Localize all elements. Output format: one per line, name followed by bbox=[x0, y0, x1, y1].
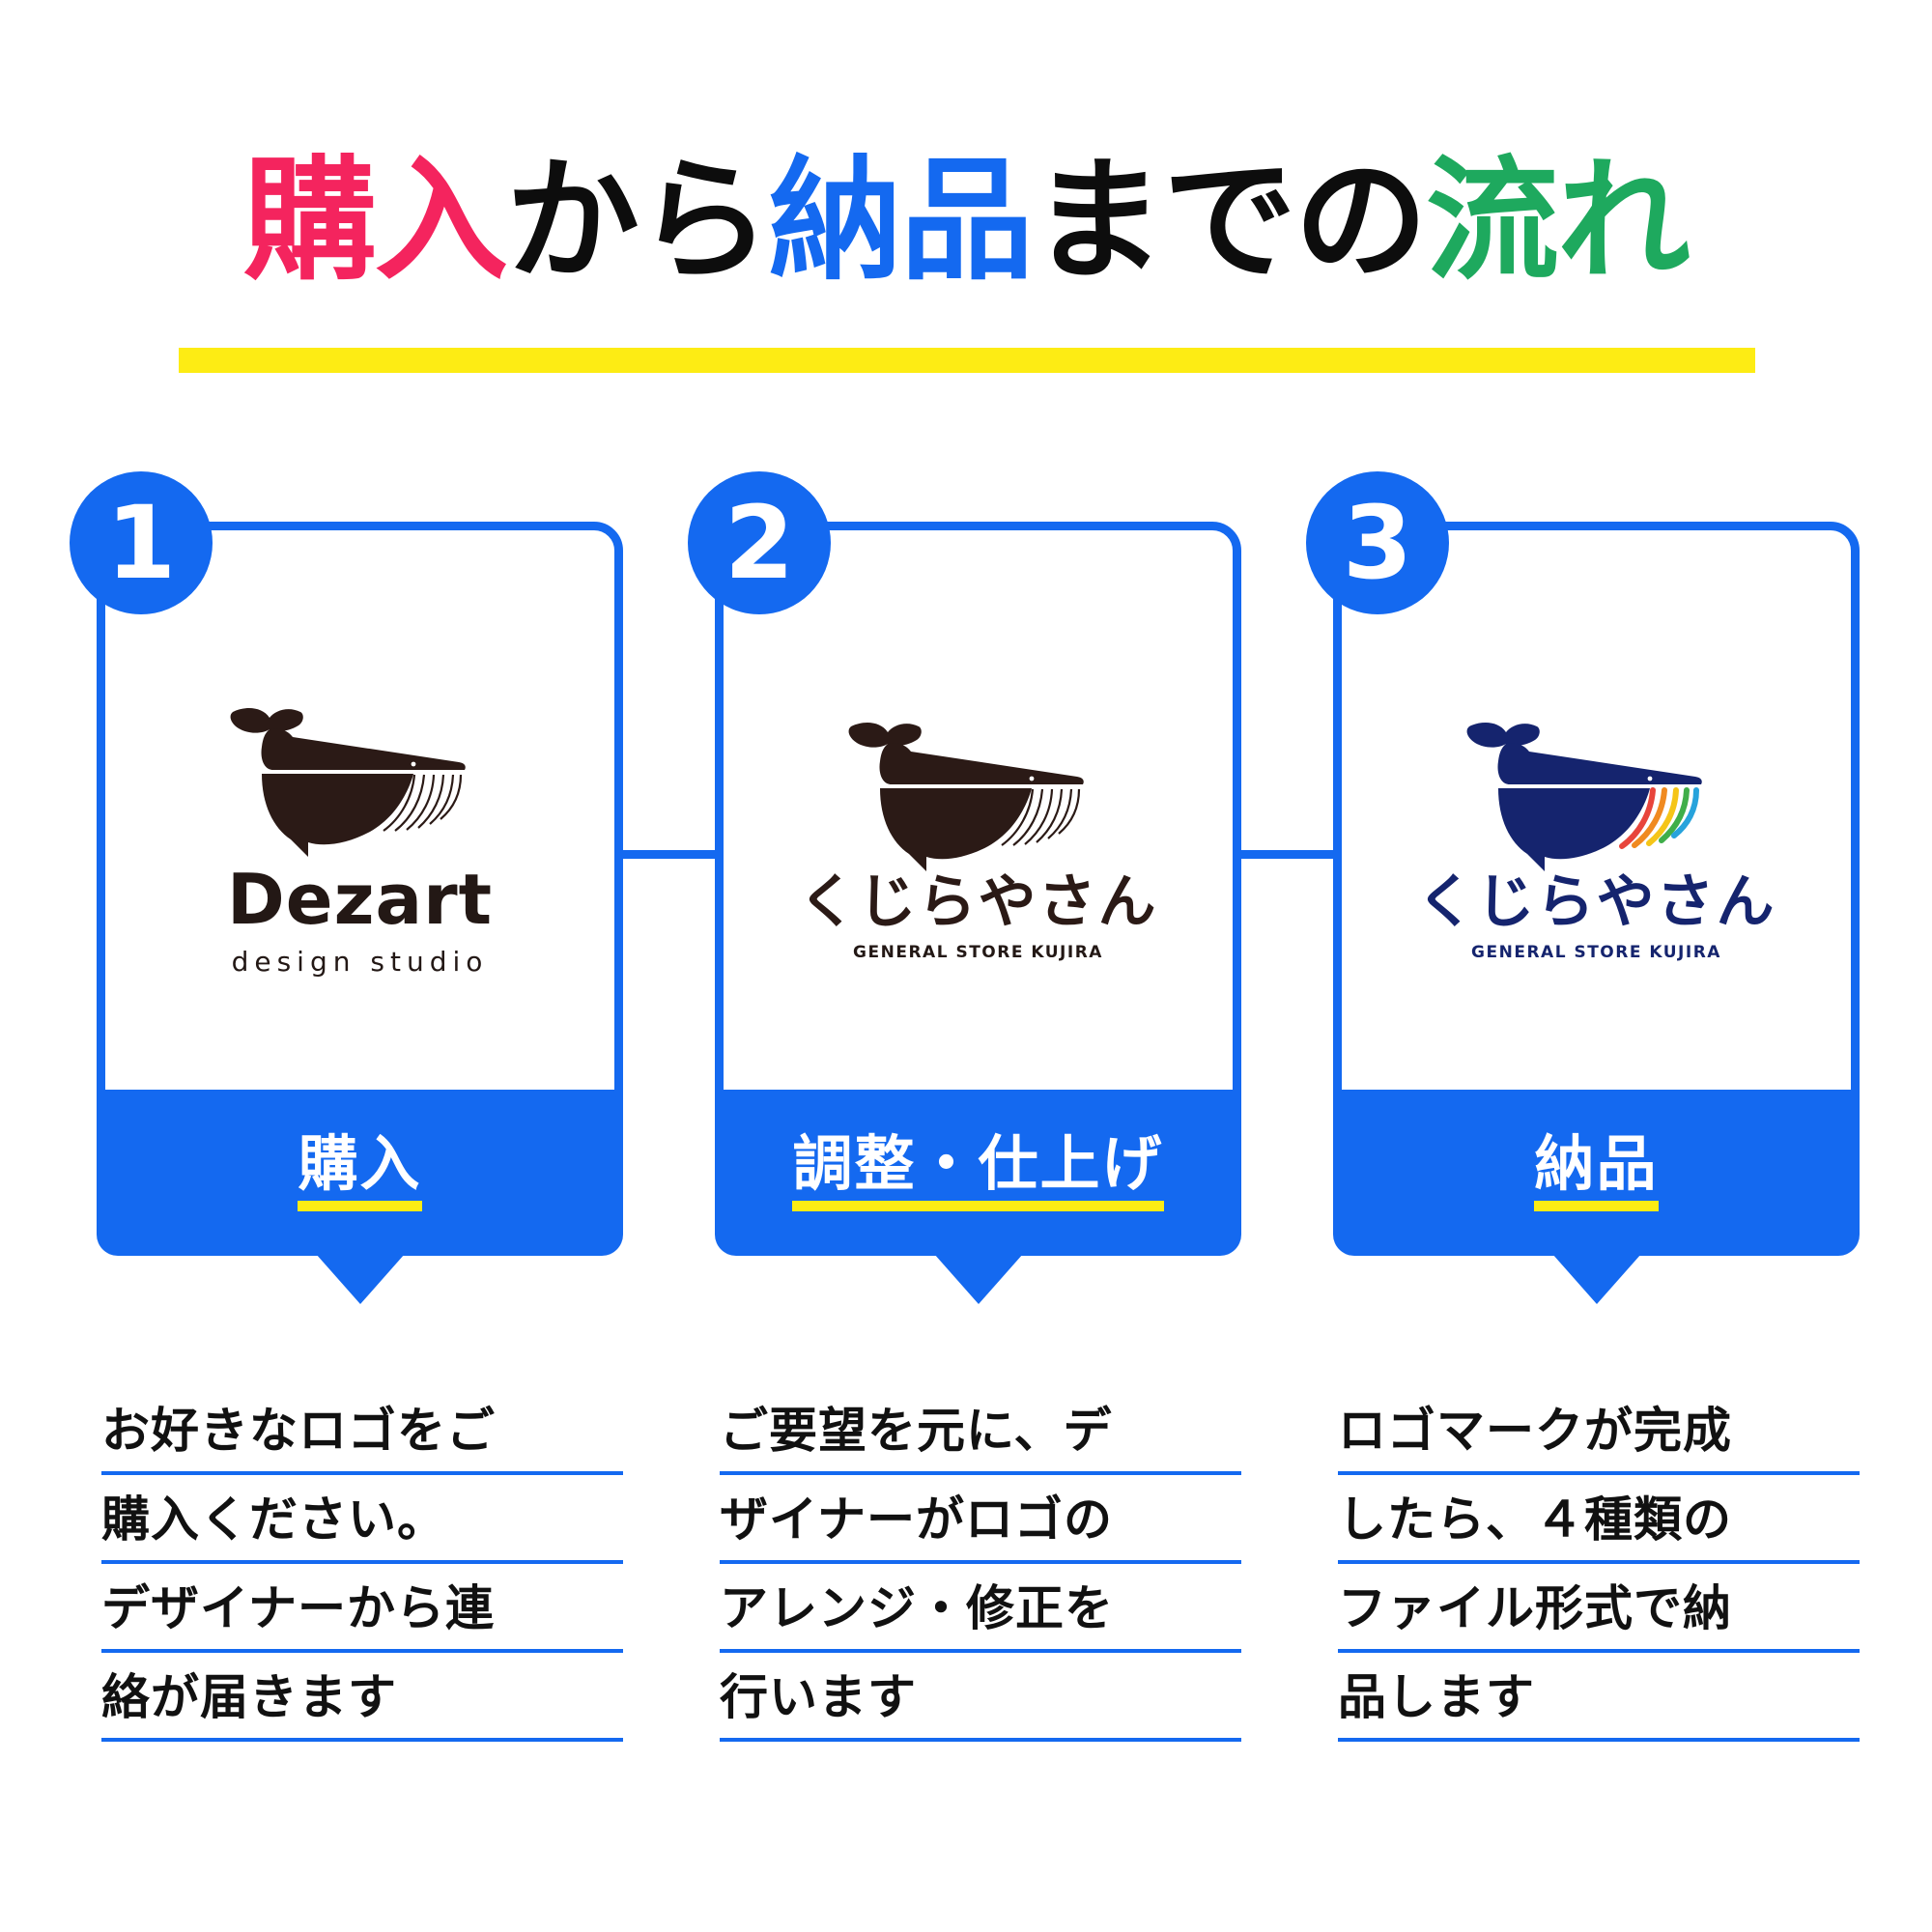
title-segment-flow: 流れ bbox=[1426, 155, 1689, 288]
descriptions-row: お好きなロゴをご 購入ください。 デザイナーから連 絡が届きます ご要望を元に、… bbox=[0, 1386, 1932, 1869]
step-description-3: ロゴマークが完成 したら、４種類の ファイル形式で納 品します bbox=[1338, 1386, 1860, 1742]
step-label-1: 購入 bbox=[298, 1134, 421, 1211]
step-card-1[interactable]: Dezart design studio 購入 1 bbox=[97, 522, 623, 1256]
desc-line: お好きなロゴをご bbox=[101, 1386, 623, 1475]
desc-line: ファイル形式で納 bbox=[1338, 1564, 1860, 1653]
dezart-whale-logo: Dezart design studio bbox=[97, 704, 623, 978]
title-underline bbox=[179, 348, 1755, 373]
step-card-2[interactable]: くじらやさん GENERAL STORE KUJIRA 調整・仕上げ 2 bbox=[715, 522, 1241, 1256]
title-segment-madeno: までの bbox=[1032, 155, 1426, 288]
step-card-3-logo-area: くじらやさん GENERAL STORE KUJIRA bbox=[1333, 522, 1860, 1101]
step-description-2: ご要望を元に、デ ザイナーがロゴの アレンジ・修正を 行います bbox=[720, 1386, 1241, 1742]
title-segment-kara: から bbox=[506, 155, 769, 288]
step-card-2-logo-area: くじらやさん GENERAL STORE KUJIRA bbox=[715, 522, 1241, 1101]
page-title: 購入から納品までの流れ bbox=[0, 155, 1932, 288]
desc-line: 行います bbox=[720, 1653, 1241, 1742]
desc-line: ロゴマークが完成 bbox=[1338, 1386, 1860, 1475]
step-card-2-pointer bbox=[934, 1254, 1023, 1304]
step-label-2: 調整・仕上げ bbox=[792, 1134, 1163, 1211]
logo-subtitle: design studio bbox=[232, 946, 489, 978]
logo-name: くじらやさん bbox=[799, 873, 1158, 931]
step-card-1-logo-area: Dezart design studio bbox=[97, 522, 623, 1101]
logo-name: Dezart bbox=[227, 865, 493, 934]
steps-row: Dezart design studio 購入 1 bbox=[0, 522, 1932, 1314]
step-card-3[interactable]: くじらやさん GENERAL STORE KUJIRA 納品 3 bbox=[1333, 522, 1860, 1256]
logo-name: くじらやさん bbox=[1417, 873, 1776, 931]
desc-line: 品します bbox=[1338, 1653, 1860, 1742]
desc-line: 絡が届きます bbox=[101, 1653, 623, 1742]
step-description-1: お好きなロゴをご 購入ください。 デザイナーから連 絡が届きます bbox=[101, 1386, 623, 1742]
flow-infographic: 購入から納品までの流れ bbox=[0, 0, 1932, 1932]
step-card-1-pointer bbox=[316, 1254, 405, 1304]
whale-icon bbox=[1452, 719, 1742, 873]
desc-line: ザイナーがロゴの bbox=[720, 1475, 1241, 1564]
desc-line: したら、４種類の bbox=[1338, 1475, 1860, 1564]
whale-icon bbox=[834, 719, 1123, 873]
step-card-2-footer: 調整・仕上げ bbox=[715, 1090, 1241, 1256]
title-segment-delivery: 納品 bbox=[769, 155, 1032, 288]
step-card-3-footer: 納品 bbox=[1333, 1090, 1860, 1256]
step-card-1-footer: 購入 bbox=[97, 1090, 623, 1256]
step-number-badge-2: 2 bbox=[688, 471, 831, 614]
whale-icon bbox=[215, 704, 505, 859]
kujira-whale-logo: くじらやさん GENERAL STORE KUJIRA bbox=[715, 719, 1241, 962]
desc-line: ご要望を元に、デ bbox=[720, 1386, 1241, 1475]
desc-line: 購入ください。 bbox=[101, 1475, 623, 1564]
logo-subtitle: GENERAL STORE KUJIRA bbox=[1471, 943, 1721, 962]
logo-subtitle: GENERAL STORE KUJIRA bbox=[853, 943, 1103, 962]
desc-line: アレンジ・修正を bbox=[720, 1564, 1241, 1653]
title-segment-purchase: 購入 bbox=[243, 155, 506, 288]
kujira-whale-logo-color: くじらやさん GENERAL STORE KUJIRA bbox=[1333, 719, 1860, 962]
step-card-3-pointer bbox=[1552, 1254, 1641, 1304]
step-number-badge-1: 1 bbox=[70, 471, 213, 614]
desc-line: デザイナーから連 bbox=[101, 1564, 623, 1653]
step-label-3: 納品 bbox=[1534, 1134, 1658, 1211]
step-number-badge-3: 3 bbox=[1306, 471, 1449, 614]
